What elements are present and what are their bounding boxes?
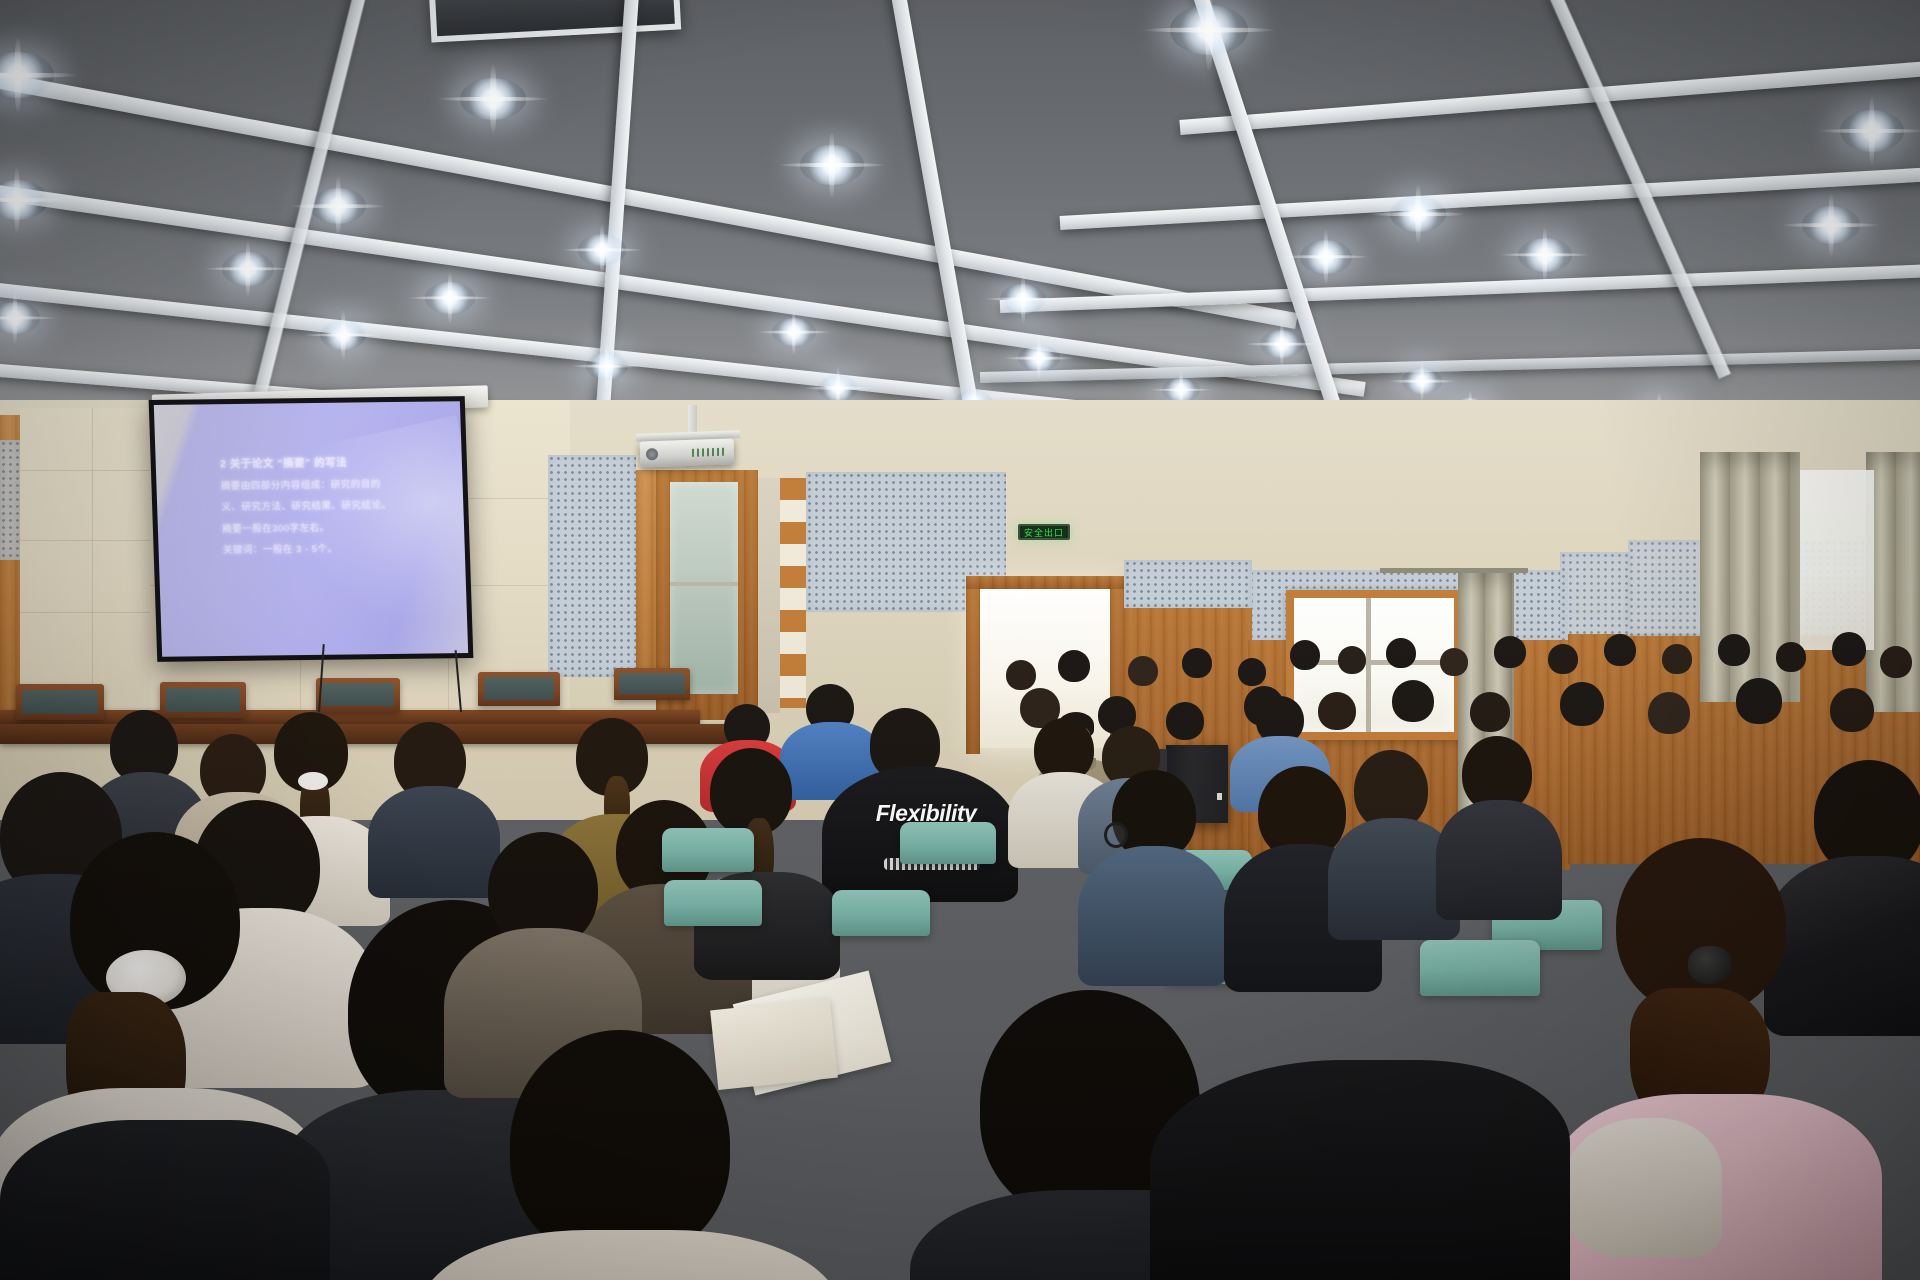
audience-head [1338, 646, 1366, 674]
ceiling-downlight [1260, 330, 1304, 358]
audience-head [1058, 650, 1090, 682]
ceiling-downlight [1162, 378, 1200, 402]
hair-clip-icon [1688, 946, 1732, 984]
audience-head [1006, 660, 1036, 690]
audience-foreground-mass [1150, 1060, 1570, 1280]
audience-head [1560, 682, 1604, 726]
stone-seam [20, 540, 160, 541]
audience-head [1736, 678, 1782, 724]
audience-foreground-mass [0, 1120, 330, 1280]
auditorium-seat [662, 828, 754, 872]
projector-lens-icon [646, 448, 658, 460]
ceiling-downlight [0, 302, 40, 334]
audience-head [1440, 648, 1468, 676]
audience-head [1470, 692, 1510, 732]
audience-head [1238, 658, 1266, 686]
ceiling-downlight [1518, 238, 1572, 272]
ceiling-downlight [800, 145, 864, 185]
auditorium-photo: 安全出口 2 关于论文 “摘要” 的写法 摘要由四部分内容组成：研究的目的 义、… [0, 0, 1920, 1280]
auditorium-seat [664, 880, 762, 926]
audience-head [1776, 642, 1806, 672]
audience-head [1318, 692, 1356, 730]
audience-head [1182, 648, 1212, 678]
auditorium-seat [1420, 940, 1540, 996]
auditorium-seat [900, 822, 996, 864]
audience-head [1392, 680, 1434, 722]
ceiling-beam [593, 0, 640, 449]
acoustic-panel [0, 440, 20, 560]
audience-head [1832, 632, 1866, 666]
ceiling-beam [253, 0, 370, 397]
audience-head [1128, 656, 1158, 686]
ceiling-downlight [1840, 110, 1904, 152]
ceiling-downlight [772, 318, 816, 346]
ceiling-beam [1060, 162, 1920, 230]
audience-head [1290, 640, 1320, 670]
audience-head [1662, 644, 1692, 674]
ceiling-downlight [1300, 240, 1352, 274]
hair-tie [298, 772, 328, 790]
audience-head [1880, 646, 1912, 678]
audience-head [510, 1030, 730, 1260]
audience-head [1830, 688, 1874, 732]
ceiling-downlight [222, 252, 274, 286]
doorway-frame [966, 576, 1124, 589]
air-vent-icon [429, 0, 681, 43]
slide-line-1: 摘要由四部分内容组成：研究的目的 [221, 479, 457, 492]
ceiling-downlight [460, 78, 526, 120]
slide-title: 2 关于论文 “摘要” 的写法 [220, 457, 456, 471]
ceiling-downlight [310, 188, 366, 224]
audience-torso [1078, 846, 1228, 986]
door-mullion [670, 582, 738, 586]
projector-vents [692, 448, 726, 457]
audience-head [1386, 638, 1416, 668]
audience-head [1718, 634, 1750, 666]
ceiling-downlight [1802, 206, 1860, 244]
paper-sheet [710, 998, 838, 1090]
ceiling-downlight [425, 282, 475, 314]
exit-sign-label: 安全出口 [1024, 526, 1064, 539]
audience-torso [1436, 800, 1562, 920]
exit-sign: 安全出口 [1018, 524, 1070, 540]
eyeglasses-icon [1104, 822, 1128, 848]
audience-head [1648, 692, 1690, 734]
audience-head [1166, 702, 1204, 740]
audience-head [1604, 634, 1636, 666]
jacket-hood [1562, 1118, 1722, 1258]
ceiling-beam [1179, 53, 1920, 135]
stone-seam [20, 470, 160, 471]
auditorium-seat [832, 890, 930, 936]
seated-audience: Flexibility [0, 600, 1920, 1280]
audience-torso [368, 786, 500, 898]
slide-line-3: 摘要一般在300字左右。 [222, 522, 458, 535]
leather-jacket [1764, 856, 1920, 1036]
slide-content: 2 关于论文 “摘要” 的写法 摘要由四部分内容组成：研究的目的 义、研究方法、… [220, 457, 459, 557]
audience-head [1548, 644, 1578, 674]
audience-head [1494, 636, 1526, 668]
ceiling-projector [640, 438, 735, 467]
slide-line-2: 义、研究方法、研究结果、研究结论。 [221, 501, 457, 514]
curtain-rod [1380, 568, 1528, 573]
